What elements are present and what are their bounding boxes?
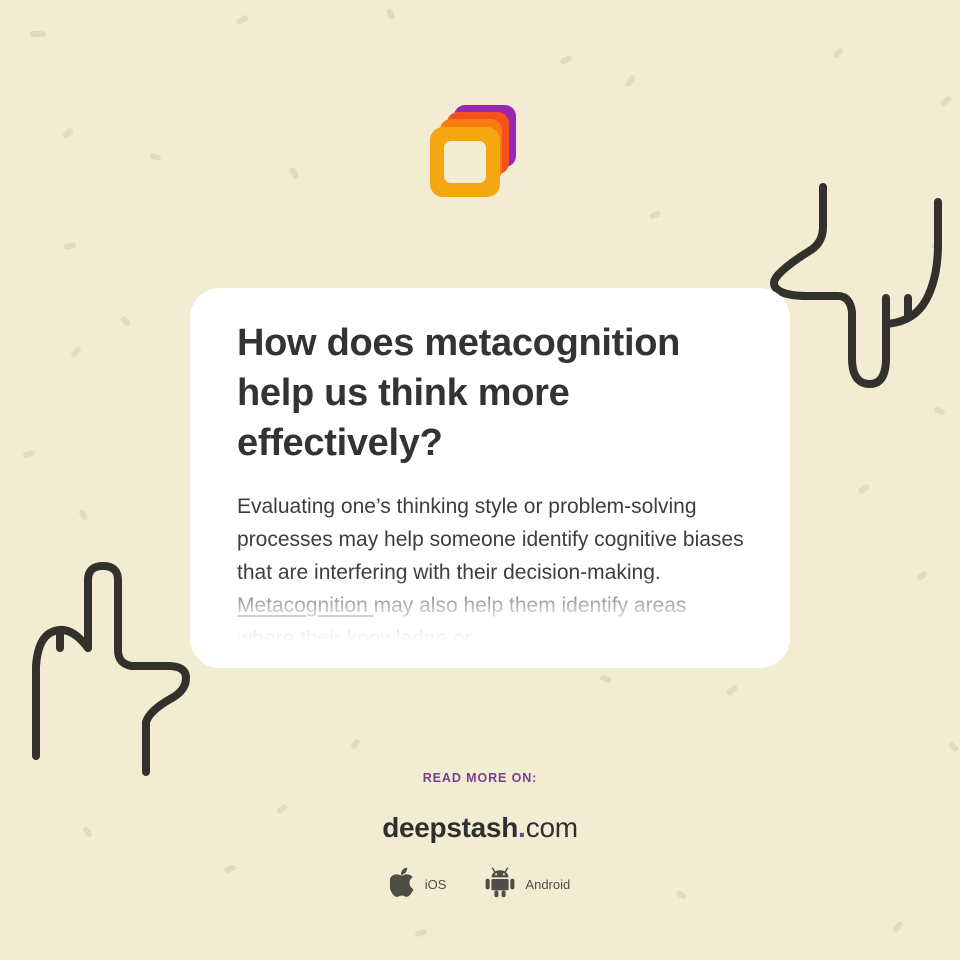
confetti-dash (235, 14, 249, 26)
brand-name-text: deepstash (382, 812, 518, 843)
card-body-text: Evaluating one’s thinking style or probl… (237, 490, 744, 655)
confetti-dash (915, 570, 928, 582)
app-store-badges: iOS Android (0, 866, 960, 903)
confetti-dash (625, 74, 637, 88)
confetti-dash (947, 741, 959, 753)
confetti-dash (857, 483, 870, 495)
android-store-label: Android (525, 877, 570, 892)
logo-center-cutout (444, 141, 486, 183)
brand-url: deepstash.com (0, 812, 960, 844)
confetti-dash (30, 31, 46, 38)
confetti-dash (120, 315, 132, 327)
body-lead-text: Evaluating one’s thinking style or probl… (237, 495, 744, 584)
confetti-dash (288, 166, 299, 179)
brand-dot-text: . (518, 812, 526, 843)
confetti-dash (939, 95, 952, 107)
confetti-dash (892, 921, 904, 934)
android-store-badge[interactable]: Android (484, 866, 570, 903)
ios-store-badge[interactable]: iOS (390, 867, 447, 902)
deepstash-logo (430, 105, 516, 197)
confetti-dash (599, 674, 611, 684)
confetti-dash (64, 242, 77, 250)
android-icon (484, 866, 516, 903)
confetti-dash (930, 238, 943, 249)
confetti-dash (832, 47, 844, 59)
page-title: How does metacognition help us think mor… (237, 318, 744, 468)
metacognition-link[interactable]: Metacognition (237, 594, 374, 617)
confetti-dash (726, 684, 739, 696)
confetti-dash (62, 127, 75, 140)
ios-store-label: iOS (425, 877, 447, 892)
read-more-label: READ MORE ON: (0, 771, 960, 785)
brand-tld-text: com (526, 812, 578, 843)
content-card: How does metacognition help us think mor… (190, 288, 790, 668)
confetti-dash (933, 406, 946, 416)
confetti-dash (386, 8, 395, 20)
card-content: How does metacognition help us think mor… (190, 288, 790, 655)
confetti-dash (70, 345, 82, 358)
apple-icon (390, 867, 416, 902)
confetti-dash (559, 55, 572, 65)
hand-illustration-top-right (766, 172, 960, 402)
confetti-dash (648, 210, 661, 221)
confetti-dash (149, 153, 161, 162)
confetti-dash (414, 929, 427, 938)
confetti-dash (350, 738, 361, 750)
confetti-dash (22, 449, 35, 458)
confetti-dash (78, 509, 89, 522)
poster-canvas: How does metacognition help us think mor… (0, 0, 960, 960)
